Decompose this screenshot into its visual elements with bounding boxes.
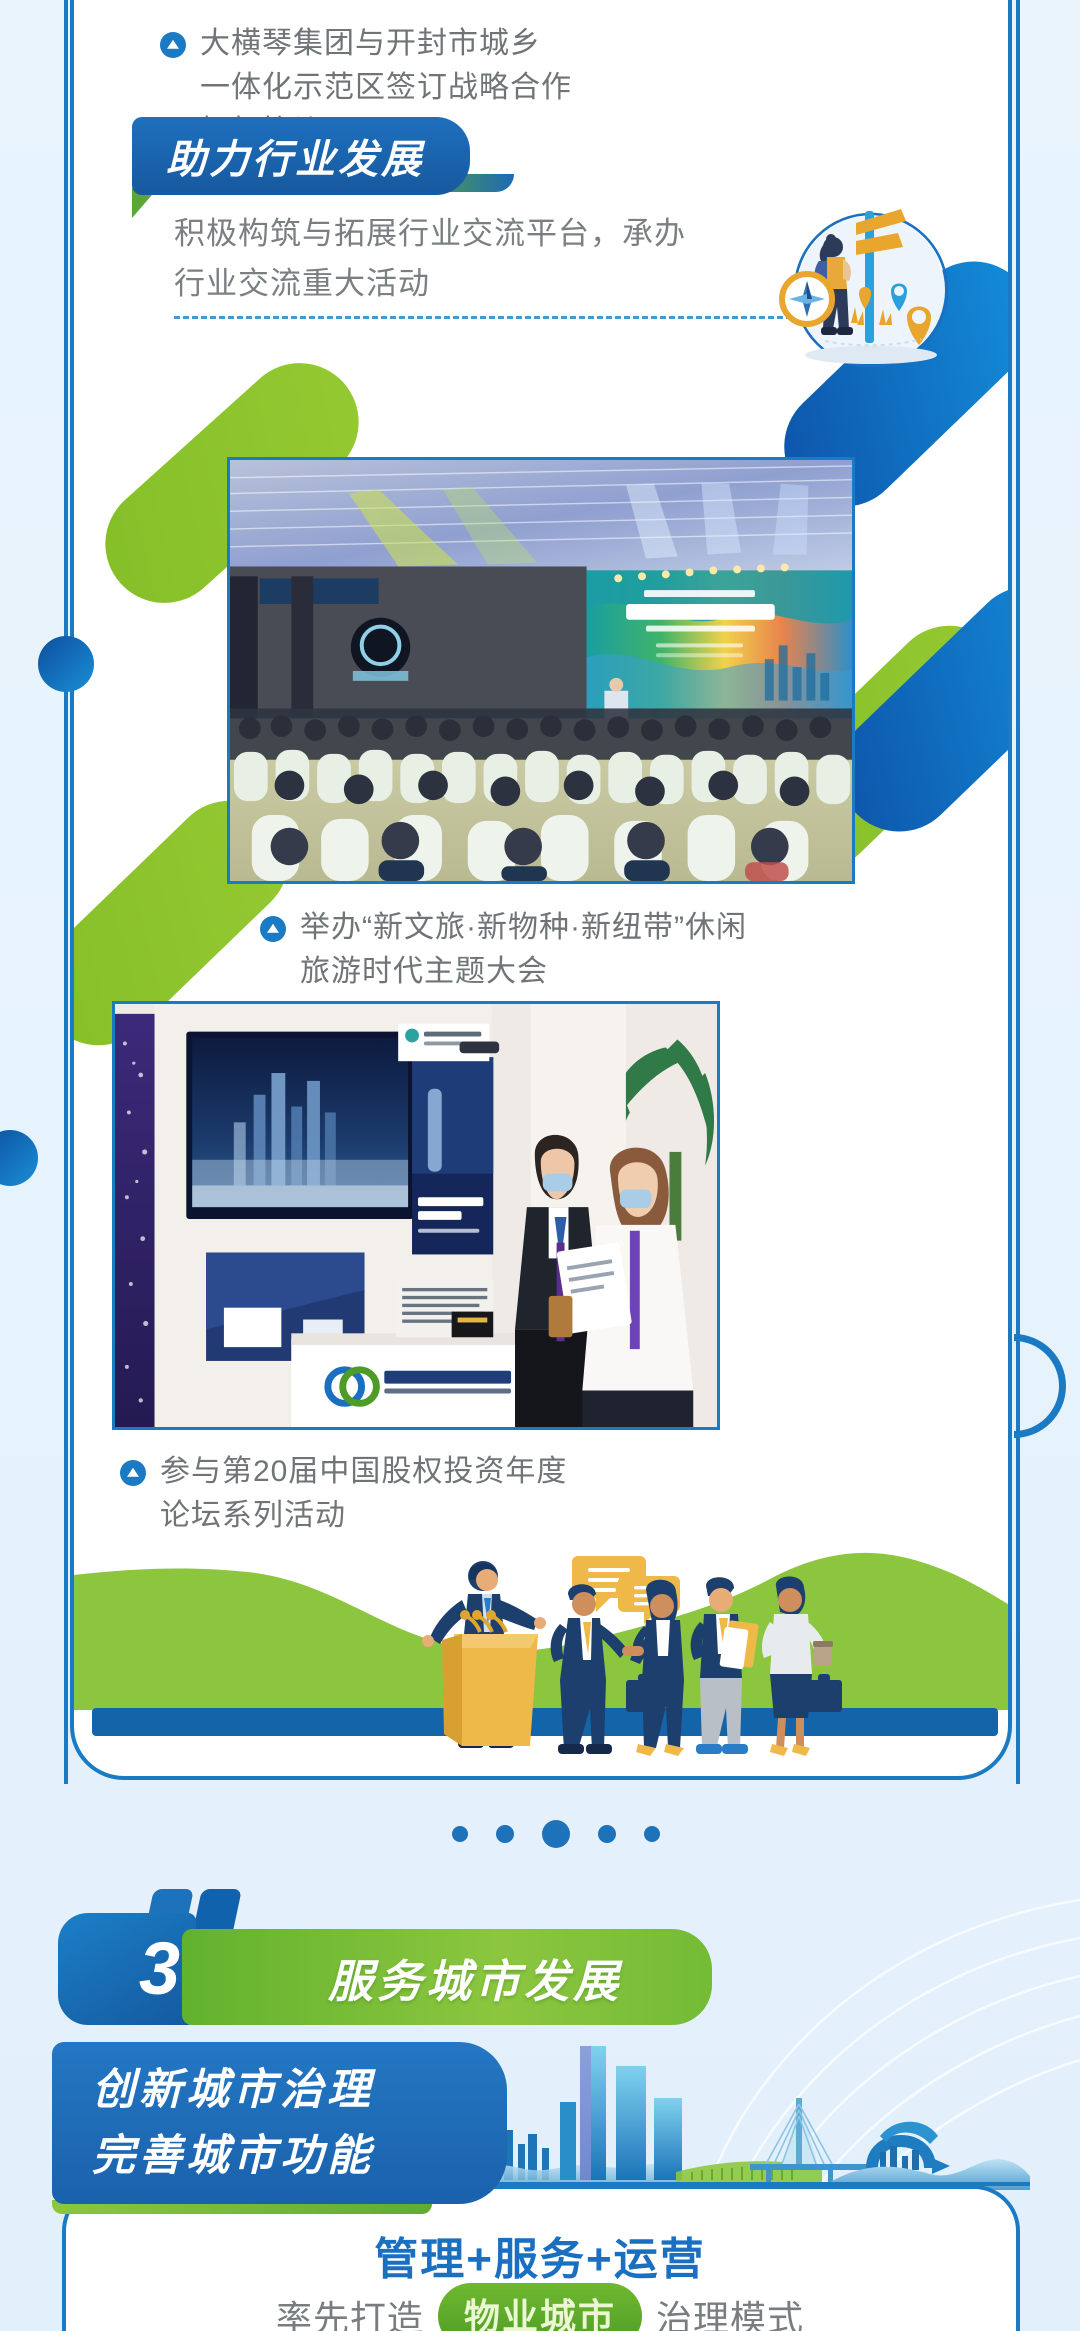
business-people-podium-handshake-illustration [388,1528,858,1763]
triangle-badge-icon [260,916,286,942]
tagline-after: 治理模式 [656,2290,804,2331]
conference-photo [227,457,855,884]
city-skyline-bridge-illustration [430,2040,1030,2190]
separator-dot-2 [496,1825,514,1843]
right-rail-semicircle [1014,1334,1066,1438]
dot-separator [452,1820,660,1848]
tagline-before: 率先打造 [276,2290,424,2331]
right-rail-line [1016,0,1020,1784]
ribbon-industry-development: 助力行业发展 [132,117,470,195]
property-city-tagline: 率先打造 物业城市 治理模式 [0,2283,1080,2331]
city-governance-title: 创新城市治理 完善城市功能 [52,2042,507,2204]
section-3-header: 3 服务城市发展 [58,1889,778,2029]
section-number: 3 [139,1932,180,2006]
city-title-line-1: 创新城市治理 [92,2057,507,2123]
infographic-page: 大横琴集团与开封市城乡 一体化示范区签订战略合作 框架协议 助力行业发展 积极构… [0,0,1080,2331]
traveler-signpost-compass-illustration [755,195,990,385]
caption-booth-text: 参与第20届中国股权投资年度 论坛系列活动 [160,1450,567,1538]
caption-conference-text: 举办“新文旅·新物种·新纽带”休闲 旅游时代主题大会 [300,906,747,994]
ribbon-industry-label: 助力行业发展 [166,127,424,185]
dashed-divider [174,316,792,319]
section-3-banner: 服务城市发展 [182,1929,712,2025]
separator-dot-4 [598,1825,616,1843]
caption-booth: 参与第20届中国股权投资年度 论坛系列活动 [120,1450,720,1538]
property-city-chip: 物业城市 [438,2283,642,2331]
city-title-line-2: 完善城市功能 [92,2123,507,2189]
section-number-badge: 3 [58,1913,196,2025]
section-3-title: 服务城市发展 [328,1945,622,2010]
left-rail-line [64,0,68,1784]
exhibition-booth-photo [112,1001,720,1430]
separator-dot-1 [452,1826,468,1842]
triangle-badge-icon [120,1460,146,1486]
separator-dot-5 [644,1826,660,1842]
right-rail-dot [0,1130,38,1186]
separator-dot-3 [542,1820,570,1848]
left-rail-dot [38,636,94,692]
triangle-badge-icon [160,32,186,58]
management-service-operation-title: 管理+服务+运营 [0,2223,1080,2287]
industry-body-text: 积极构筑与拓展行业交流平台，承办 行业交流重大活动 [174,209,814,309]
caption-conference: 举办“新文旅·新物种·新纽带”休闲 旅游时代主题大会 [260,906,900,994]
